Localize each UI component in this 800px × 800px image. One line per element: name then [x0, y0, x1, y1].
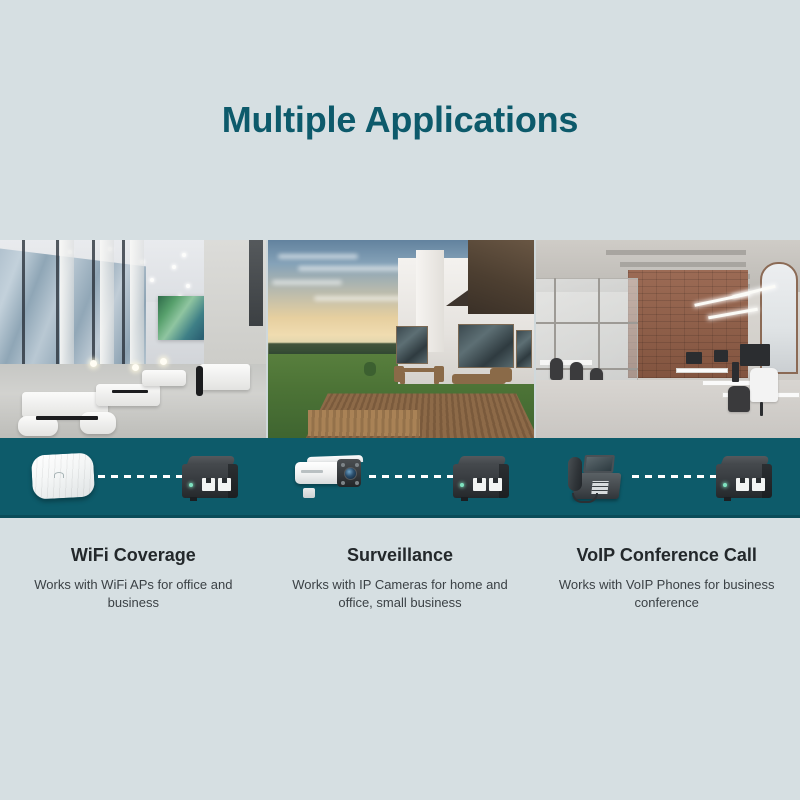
- caption-title: Surveillance: [285, 545, 516, 566]
- office-monitor: [740, 344, 770, 366]
- caption-title: WiFi Coverage: [18, 545, 249, 566]
- poe-injector-icon: [453, 456, 509, 498]
- camera-wall-mount: [303, 488, 315, 498]
- lobby-downlight: [182, 253, 186, 257]
- house-eave-soffit: [468, 240, 534, 314]
- diagram-wifi-coverage: [0, 438, 267, 515]
- poe-foot: [461, 497, 468, 501]
- photo-hotel-lobby-interior: [0, 240, 266, 438]
- camera-ir-led-icon: [341, 481, 345, 485]
- office-glass-frame: [536, 322, 638, 324]
- caption-description: Works with IP Cameras for home and offic…: [285, 576, 516, 613]
- poe-rj45-port: [473, 478, 486, 491]
- connection-row: [0, 451, 267, 503]
- photo-strip: [0, 240, 800, 438]
- office-chair-post: [760, 402, 763, 416]
- house-cloud: [314, 296, 404, 301]
- application-captions: WiFi Coverage Works with WiFi APs for of…: [0, 518, 800, 613]
- caption-voip-conference-call: VoIP Conference Call Works with VoIP Pho…: [533, 545, 800, 613]
- phone-handset: [568, 457, 582, 491]
- house-deck-step: [308, 410, 420, 436]
- poe-rj45-port: [489, 478, 502, 491]
- caption-surveillance: Surveillance Works with IP Cameras for h…: [267, 545, 534, 613]
- lobby-downlight: [172, 265, 176, 269]
- lobby-pendant-light: [90, 360, 97, 367]
- ap-brand-logo-icon: [54, 472, 64, 478]
- connection-row: [533, 449, 800, 505]
- lobby-sofa: [142, 370, 186, 386]
- lobby-pendant-light: [160, 358, 167, 365]
- office-ceiling-beam: [606, 250, 746, 255]
- poe-rj45-port: [752, 478, 765, 491]
- dashed-ethernet-cable-icon: [369, 475, 455, 478]
- camera-lens: [344, 467, 357, 480]
- poe-injector-icon: [716, 456, 772, 498]
- wifi-access-point-icon: [28, 451, 100, 503]
- office-conference-table: [540, 360, 592, 365]
- phone-cord: [572, 493, 598, 503]
- office-desk-chair: [728, 386, 750, 412]
- ip-camera-icon: [291, 451, 371, 503]
- diagram-surveillance: [267, 438, 534, 515]
- application-diagram-band: [0, 438, 800, 518]
- poe-foot: [190, 497, 197, 501]
- poe-foot: [724, 497, 731, 501]
- house-window: [516, 330, 532, 368]
- house-cloud: [272, 280, 342, 285]
- house-potted-plant: [364, 362, 376, 376]
- caption-description: Works with WiFi APs for office and busin…: [18, 576, 249, 613]
- photo-loft-office-interior: [536, 240, 800, 438]
- house-window: [458, 324, 514, 368]
- caption-description: Works with VoIP Phones for business conf…: [551, 576, 782, 613]
- lobby-downlight: [150, 278, 154, 282]
- poe-rj45-port: [736, 478, 749, 491]
- poe-rj45-port: [218, 478, 231, 491]
- lobby-pendant-light: [132, 364, 139, 371]
- house-outdoor-chair: [434, 366, 444, 382]
- office-monitor: [686, 352, 702, 364]
- phone-display: [583, 455, 615, 473]
- lobby-coffee-table: [112, 390, 148, 393]
- lobby-person-silhouette: [196, 366, 203, 396]
- photo-modern-house-deck: [268, 240, 534, 438]
- camera-ir-led-icon: [355, 481, 359, 485]
- poe-injector-icon: [182, 456, 238, 498]
- office-ceiling-beam: [620, 262, 746, 267]
- caption-title: VoIP Conference Call: [551, 545, 782, 566]
- poe-status-led-icon: [723, 483, 727, 487]
- lobby-downlight: [186, 284, 190, 288]
- dashed-ethernet-cable-icon: [632, 475, 718, 478]
- poe-status-led-icon: [189, 483, 193, 487]
- house-cloud: [278, 254, 358, 259]
- office-meeting-chair: [550, 358, 563, 380]
- page-title: Multiple Applications: [222, 99, 578, 141]
- dashed-ethernet-cable-icon: [98, 475, 184, 478]
- office-pc-tower: [732, 362, 739, 382]
- house-window: [396, 326, 428, 364]
- office-monitor: [714, 350, 728, 362]
- lobby-coffee-table: [36, 416, 98, 420]
- house-sun-lounger: [490, 368, 512, 382]
- house-outdoor-chair: [394, 366, 404, 382]
- camera-ir-led-icon: [341, 463, 345, 467]
- connection-row: [267, 451, 534, 503]
- caption-wifi-coverage: WiFi Coverage Works with WiFi APs for of…: [0, 545, 267, 613]
- camera-body: [295, 462, 343, 484]
- poe-status-led-icon: [460, 483, 464, 487]
- office-desk-chair: [750, 368, 778, 402]
- diagram-voip-conference-call: [533, 438, 800, 515]
- phone-keypad: [591, 481, 608, 494]
- lobby-reception-desk: [200, 364, 250, 390]
- lobby-wall-panel: [249, 240, 263, 326]
- title-section: Multiple Applications: [0, 0, 800, 240]
- lobby-sofa: [96, 384, 160, 406]
- voip-phone-icon: [562, 449, 634, 505]
- poe-rj45-port: [202, 478, 215, 491]
- camera-ir-led-icon: [355, 463, 359, 467]
- camera-brand-label: [301, 470, 323, 473]
- office-desk: [676, 368, 728, 373]
- house-cloud: [298, 266, 408, 271]
